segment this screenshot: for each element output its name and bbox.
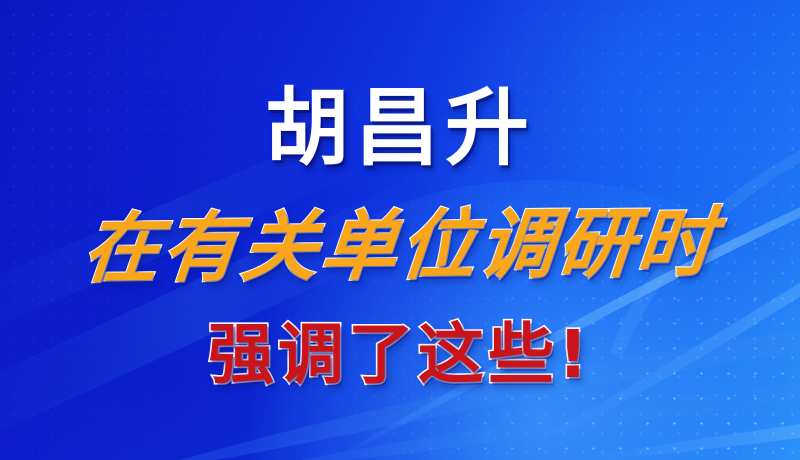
headline-name: 胡昌升 — [0, 86, 800, 170]
headline-emphasis-line: 强调了这些! — [0, 322, 800, 388]
headline-script-line: 在有关单位调研时 — [0, 204, 800, 288]
news-banner: 胡昌升 在有关单位调研时 强调了这些! — [0, 0, 800, 460]
headline-block: 胡昌升 在有关单位调研时 强调了这些! — [0, 0, 800, 460]
